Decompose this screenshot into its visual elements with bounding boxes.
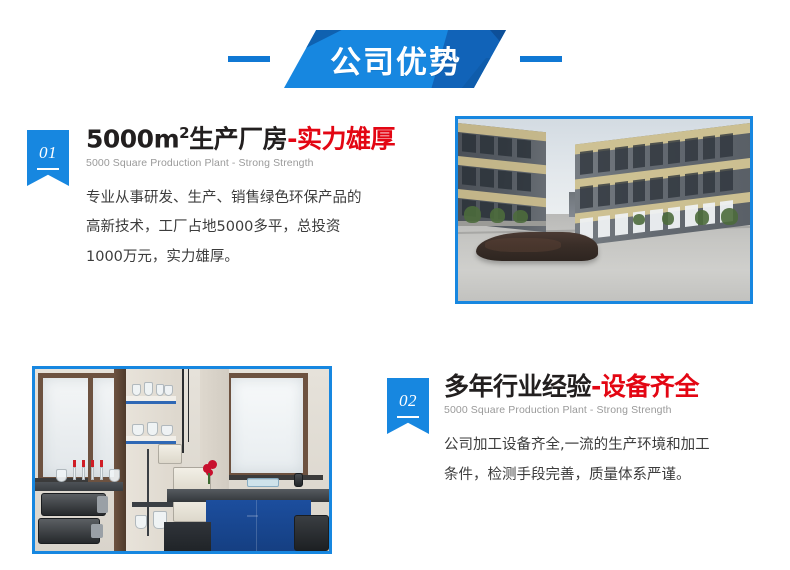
advantage-section-2: 02 多年行业经验-设备齐全 5000 Square Production Pl… [0, 360, 790, 560]
company-advantage-page: 公司优势 01 5000m2生产厂房-实力雄厚 5000 Square Prod… [0, 0, 790, 570]
body-text-2: 公司加工设备齐全,一流的生产环境和加工 条件，检测手段完善，质量体系严谨。 [444, 431, 784, 490]
header-banner: 公司优势 [284, 30, 506, 88]
laboratory-interior-photo [32, 366, 332, 554]
body-line: 公司加工设备齐全,一流的生产环境和加工 [444, 431, 784, 461]
badge-underline [397, 416, 419, 418]
body-text-1: 专业从事研发、生产、销售绿色环保产品的 高新技术，工厂占地5000多平，总投资 … [86, 184, 436, 273]
section-header: 公司优势 [0, 28, 790, 90]
headline-middle: 生产厂房 [189, 124, 287, 153]
headline-highlight: -设备齐全 [591, 372, 699, 401]
factory-exterior-photo [455, 116, 753, 304]
page-title: 公司优势 [284, 30, 506, 88]
headline-1: 5000m2生产厂房-实力雄厚 [86, 126, 436, 153]
subline-2: 5000 Square Production Plant - Strong St… [444, 404, 784, 416]
advantage-section-1: 01 5000m2生产厂房-实力雄厚 5000 Square Productio… [0, 112, 790, 312]
badge-underline [37, 168, 59, 170]
headline-2: 多年行业经验-设备齐全 [444, 374, 784, 400]
subline-1: 5000 Square Production Plant - Strong St… [86, 157, 436, 169]
body-line: 专业从事研发、生产、销售绿色环保产品的 [86, 184, 436, 214]
headline-middle: 多年行业经验 [444, 372, 591, 401]
badge-number: 01 [39, 143, 57, 163]
body-line: 高新技术，工厂占地5000多平，总投资 [86, 213, 436, 243]
headline-superscript: 2 [179, 124, 189, 142]
headline-number: 5000m [86, 124, 179, 153]
badge-number: 02 [399, 391, 417, 411]
body-line: 1000万元，实力雄厚。 [86, 243, 436, 273]
body-line: 条件，检测手段完善，质量体系严谨。 [444, 461, 784, 491]
header-dash-left [228, 56, 270, 62]
text-block-2: 多年行业经验-设备齐全 5000 Square Production Plant… [444, 374, 784, 491]
text-block-1: 5000m2生产厂房-实力雄厚 5000 Square Production P… [86, 126, 436, 273]
badge-01: 01 [27, 130, 69, 186]
headline-highlight: -实力雄厚 [287, 124, 395, 153]
badge-02: 02 [387, 378, 429, 434]
header-dash-right [520, 56, 562, 62]
